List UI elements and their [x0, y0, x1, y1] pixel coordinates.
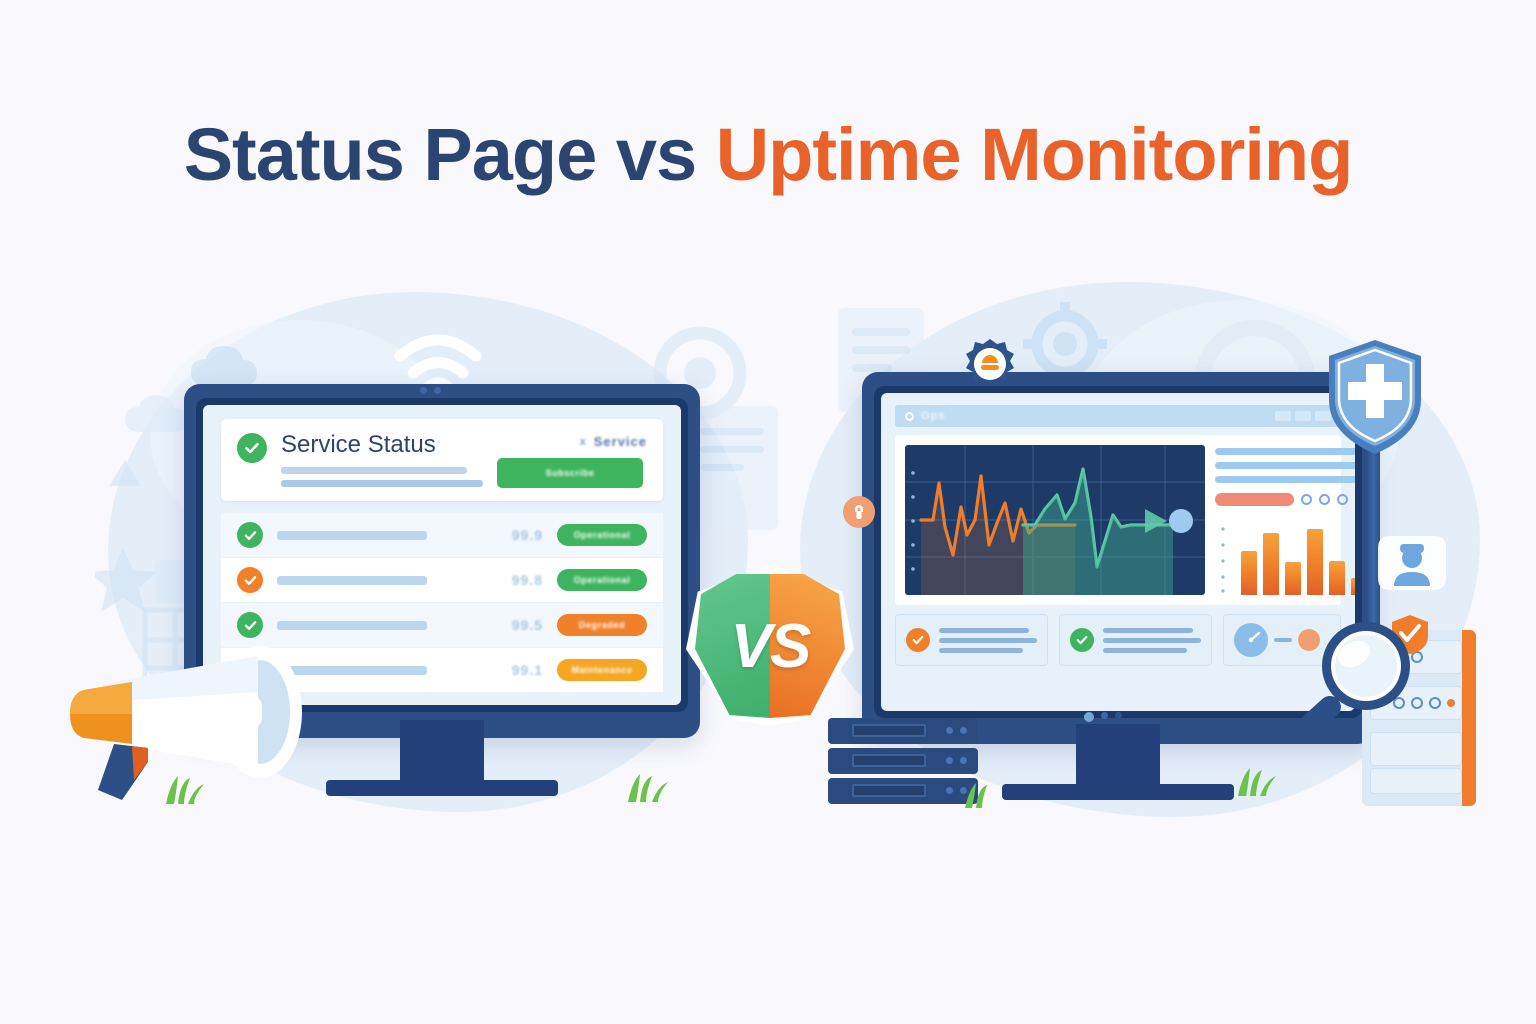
grass-decoration: [160, 770, 210, 804]
gauge-icon: [1234, 623, 1268, 657]
bar-chart-bar: [1241, 551, 1257, 595]
check-circle-green-icon: [237, 612, 263, 638]
series-uptime-area: [1023, 469, 1173, 595]
rack-row: [1370, 768, 1462, 794]
check-circle-orange-icon: [237, 567, 263, 593]
gear-icon: [962, 336, 1018, 392]
status-badge: Degraded: [557, 614, 647, 636]
server-led: [946, 757, 953, 764]
vs-badge: VS: [686, 566, 854, 726]
chart-endpoint-dot: [1169, 509, 1193, 533]
server-unit: [828, 778, 978, 804]
magnifier-icon: [1296, 618, 1416, 743]
monitor-base: [326, 780, 558, 796]
uptime-value-placeholder: 99.9: [512, 527, 543, 543]
bar-chart-bar: [1285, 562, 1301, 595]
service-name-placeholder: [277, 576, 427, 585]
server-slot: [852, 724, 926, 737]
service-row[interactable]: 99.9 Operational: [221, 512, 663, 557]
service-name-placeholder: [277, 621, 427, 630]
server-unit: [828, 718, 978, 744]
status-badge-label: Operational: [574, 530, 631, 540]
service-row[interactable]: 99.8 Operational: [221, 557, 663, 602]
status-card[interactable]: [1059, 614, 1212, 666]
monitor-camera-dots: [420, 387, 441, 394]
status-badge-label: Maintenance: [571, 665, 632, 675]
brand-prefix: x: [580, 436, 587, 448]
page-title-primary: Status Page vs: [184, 113, 696, 196]
subscribe-button-label: Subscribe: [546, 468, 595, 478]
dashboard-side-column: [1215, 445, 1355, 595]
grass-decoration: [622, 768, 674, 802]
page-title: Status Page vs Uptime Monitoring: [0, 118, 1536, 192]
status-badge: Maintenance: [557, 659, 647, 681]
uptime-line-chart-svg: [905, 445, 1205, 595]
illustration-canvas: Status Page vs Uptime Monitoring: [0, 0, 1536, 1024]
dashboard-brand: Ops: [921, 410, 945, 422]
status-badge-label: Degraded: [579, 620, 625, 630]
monitor-base: [1002, 784, 1234, 800]
dashboard-body: [895, 435, 1341, 605]
monitor-neck: [400, 720, 484, 786]
check-circle-orange-icon: [906, 628, 930, 652]
server-slot: [852, 784, 926, 797]
bar-chart-axis: [1215, 521, 1231, 595]
check-circle-green-icon: [1070, 628, 1094, 652]
status-card-lines: [1103, 628, 1201, 653]
chart-axis-ticks: [911, 471, 915, 571]
vs-badge-label: VS: [686, 566, 854, 726]
ring-icon: [1429, 697, 1441, 709]
uptime-dashboard-screen: Ops: [881, 393, 1355, 711]
status-badge: Operational: [557, 569, 647, 591]
subscribe-button[interactable]: Subscribe: [497, 458, 643, 488]
ring-icon: [1319, 494, 1330, 505]
side-line: [1215, 462, 1355, 469]
placeholder-bar: [281, 480, 483, 487]
shield-health-icon: [1325, 338, 1425, 456]
bar-chart-bars: [1231, 521, 1355, 595]
uptime-line-chart: [905, 445, 1205, 595]
server-led: [946, 727, 953, 734]
server-unit: [828, 748, 978, 774]
ring-icon: [1301, 494, 1312, 505]
dashboard-status-cards: [895, 614, 1341, 666]
placeholder-bar: [281, 467, 467, 474]
alert-dot-icon: [1447, 699, 1455, 707]
server-led: [960, 727, 967, 734]
service-name-placeholder: [277, 531, 427, 540]
check-circle-green-icon: [237, 433, 267, 463]
service-status-header-card: Service Status x Service Subscribe: [221, 419, 663, 501]
ring-icon: [1337, 494, 1348, 505]
uptime-value-placeholder: 99.1: [512, 662, 543, 678]
server-led: [960, 757, 967, 764]
bar-chart-bar: [1329, 561, 1345, 595]
ring-icon: [905, 412, 914, 421]
bar-chart-bar: [1263, 533, 1279, 595]
brand-text: Service: [594, 434, 647, 449]
status-card-lines: [939, 628, 1037, 653]
user-badge-icon: [1372, 530, 1452, 602]
grass-decoration: [960, 778, 1006, 808]
bar-chart-bar: [1351, 578, 1355, 595]
status-card[interactable]: [895, 614, 1048, 666]
bar-chart-bar: [1307, 529, 1323, 595]
uptime-value-placeholder: 99.5: [512, 617, 543, 633]
monitor-indicator-dots: [1084, 712, 1122, 722]
status-badge-label: Operational: [574, 575, 631, 585]
dashboard-topbar: Ops: [895, 405, 1341, 427]
lock-icon: [843, 496, 875, 528]
alert-bar: [1215, 493, 1294, 506]
status-badge: Operational: [557, 524, 647, 546]
page-title-accent: Uptime Monitoring: [716, 113, 1353, 196]
server-led: [946, 787, 953, 794]
incident-bar-chart: [1215, 521, 1355, 595]
side-line: [1215, 476, 1355, 483]
monitor-neck: [1076, 724, 1160, 790]
service-status-title: Service Status: [281, 432, 483, 458]
server-slot: [852, 754, 926, 767]
check-circle-green-icon: [237, 522, 263, 548]
uptime-value-placeholder: 99.8: [512, 572, 543, 588]
grass-decoration: [1232, 762, 1280, 796]
